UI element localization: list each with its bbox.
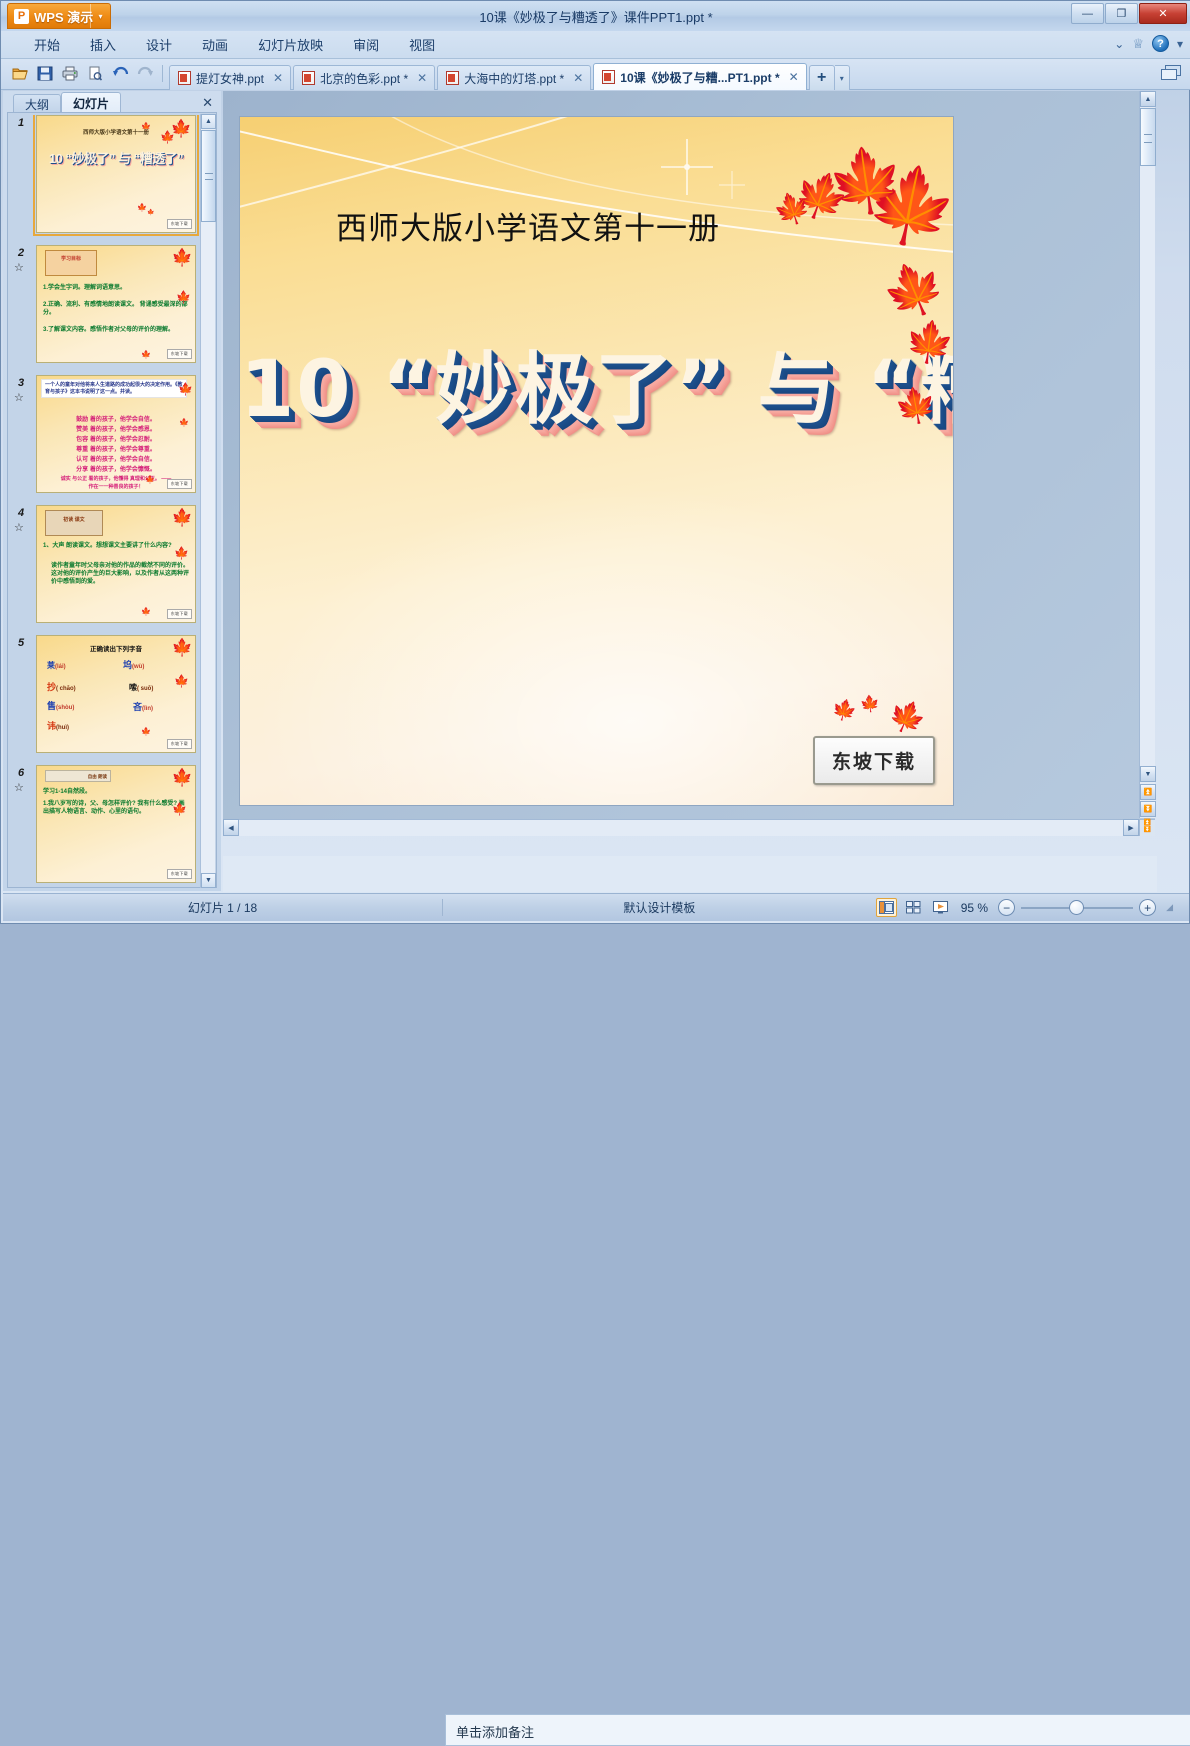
thumbnail-item[interactable]: 1 西师大版小学语文第十一册 10 “妙极了” 与 “糟透了” 🍁 🍁 🍁 🍁 …	[10, 115, 198, 237]
thumb-line: 赞美 着的孩子，他学会感恩。	[43, 426, 189, 434]
quick-access-toolbar: ▾ 提灯女神.ppt ✕ 北京的色彩.ppt * ✕ 大海中的灯塔.ppt * …	[1, 59, 1190, 90]
menu-item-slideshow[interactable]: 幻灯片放映	[243, 32, 338, 57]
thumbnail-list: 1 西师大版小学语文第十一册 10 “妙极了” 与 “糟透了” 🍁 🍁 🍁 🍁 …	[10, 115, 200, 887]
powerpoint-file-icon	[446, 71, 459, 85]
current-slide[interactable]: 西师大版小学语文第十一册 10 “妙极了” 与 “糟透了” 🍁 🍁 🍁 🍁 🍁 …	[239, 116, 954, 806]
open-icon[interactable]	[9, 62, 31, 84]
document-tab-label: 大海中的灯塔.ppt *	[464, 70, 564, 87]
scroll-down-icon[interactable]: ▼	[201, 873, 216, 888]
thumbnail-number: 3	[18, 377, 24, 389]
thumb-banner-label: 初读 课文	[46, 516, 102, 523]
thumb-pinyin: (lái)	[55, 664, 66, 670]
thumbnail-number: 5	[18, 637, 24, 649]
menu-item-view[interactable]: 视图	[394, 32, 450, 57]
save-icon[interactable]	[34, 62, 56, 84]
scroll-down-icon[interactable]: ▼	[1140, 766, 1156, 782]
scroll-up-icon[interactable]: ▲	[201, 114, 216, 129]
thumb-line: 认可 着的孩子，他学会自信。	[43, 456, 189, 464]
quick-access-buttons: ▾	[9, 62, 191, 84]
thumb-download-badge: 东坡下载	[167, 219, 192, 229]
thumb-line: 包容 着的孩子，他学会忍耐。	[43, 436, 189, 444]
powerpoint-file-icon	[178, 71, 191, 85]
document-tab[interactable]: 提灯女神.ppt ✕	[169, 65, 291, 90]
wps-app-label: WPS 演示	[34, 7, 93, 26]
document-tab-label: 提灯女神.ppt	[196, 70, 264, 87]
maple-leaf-icon: 🍁	[824, 146, 909, 218]
menu-item-animation[interactable]: 动画	[187, 32, 243, 57]
wps-presentation-window: 10课《妙极了与糟透了》课件PPT1.ppt * P WPS 演示 ▾ — ❐ …	[0, 0, 1190, 924]
maple-leaf-icon: 🍁	[830, 698, 859, 723]
document-tab[interactable]: 北京的色彩.ppt * ✕	[293, 65, 435, 90]
minimize-button[interactable]: —	[1071, 3, 1104, 24]
help-icon[interactable]: ?	[1152, 35, 1169, 52]
powerpoint-file-icon	[602, 70, 615, 84]
chevron-down-icon[interactable]: ▾	[90, 4, 110, 28]
thumb-line: 读作者童年时父母亲对他的作品的截然不同的评价。这对他的评价产生的巨大影响，以及作…	[51, 562, 189, 586]
thumb-line: 分享 着的孩子，他学会慷慨。	[43, 466, 189, 474]
document-tab-label: 北京的色彩.ppt *	[320, 70, 408, 87]
wps-presentation-icon: P	[14, 9, 29, 24]
thumbnail-item[interactable]: 4 ☆ 初读 课文 1、大声 朗读课文。想想课文主要讲了什么内容? 读作者童年时…	[10, 505, 198, 627]
document-tab-bar: 提灯女神.ppt ✕ 北京的色彩.ppt * ✕ 大海中的灯塔.ppt * ✕ …	[169, 62, 850, 90]
thumbnail-slide-6[interactable]: 自由 朗读 学习1-14自然段。 1.我八岁写的诗，父、母怎样评价? 我有什么感…	[36, 765, 196, 883]
maple-leaf-icon: 🍁	[770, 190, 815, 230]
close-icon[interactable]: ✕	[273, 71, 283, 85]
thumb-banner-label: 自由 朗读	[46, 774, 110, 780]
menu-item-start[interactable]: 开始	[19, 32, 75, 57]
thumb-hanzi: 莱	[47, 661, 55, 670]
tab-slides[interactable]: 幻灯片	[61, 92, 121, 113]
thumb-download-badge: 东坡下载	[167, 349, 192, 359]
download-watermark-badge: 东坡下载	[813, 736, 935, 785]
maple-leaf-icon: 🍁	[788, 167, 855, 227]
pane-tab-filler	[121, 95, 202, 113]
thumb-textbox: 一个人的童年对他将来人生道路的成功起很大的决定作用。《教育与孩子》这本书说明了这…	[41, 379, 187, 398]
thumbnail-number: 1	[18, 117, 24, 129]
animation-star-icon: ☆	[14, 521, 24, 534]
print-icon[interactable]	[59, 62, 81, 84]
thumb-download-badge: 东坡下载	[167, 479, 192, 489]
shirt-icon[interactable]: ♕	[1132, 36, 1144, 52]
menu-item-review[interactable]: 审阅	[338, 32, 394, 57]
slide-sorter-view-button[interactable]	[903, 898, 924, 917]
thumbnail-item[interactable]: 6 ☆ 自由 朗读 学习1-14自然段。 1.我八岁写的诗，父、母怎样评价? 我…	[10, 765, 198, 887]
thumb-pinyin: (shòu)	[56, 705, 74, 711]
menu-item-design[interactable]: 设计	[131, 32, 187, 57]
scrollbar-corner: ⏫⏬	[1139, 819, 1155, 836]
slide-editor-stage: 西师大版小学语文第十一册 10 “妙极了” 与 “糟透了” 🍁 🍁 🍁 🍁 🍁 …	[223, 91, 1155, 836]
slide-counter: 幻灯片 1 / 18	[3, 899, 443, 916]
zoom-out-button[interactable]: −	[998, 899, 1015, 916]
notes-pane[interactable]: 单击添加备注	[445, 1714, 1190, 1746]
thumb-hanzi: 坞	[123, 660, 132, 670]
thumb-wordart: 10 “妙极了” 与 “糟透了”	[43, 150, 189, 168]
thumb-line: 1.学会生字词。理解词语意思。	[43, 284, 189, 292]
thumb-pinyin: ( chāo)	[56, 686, 76, 692]
thumb-header: 正确读出下列字音	[43, 646, 189, 655]
maple-leaf-icon: 🍁	[859, 696, 880, 714]
slide-wordart-title[interactable]: 10 “妙极了” 与 “糟透了”	[240, 327, 954, 439]
thumb-line: 学习1-14自然段。	[43, 788, 189, 796]
close-icon[interactable]: ✕	[417, 71, 427, 85]
slide-navigator-pane: 大纲 幻灯片 ✕ 1 西师大版小学语文第十一册 10 “妙极了” 与 “糟透了”…	[3, 91, 221, 891]
window-arrange-icon[interactable]	[1161, 65, 1181, 82]
close-button[interactable]: ✕	[1139, 3, 1187, 24]
thumb-line: 鼓励 着的孩子，他学会自信。	[43, 416, 189, 424]
thumb-subtitle: 西师大版小学语文第十一册	[43, 130, 189, 137]
previous-slide-icon[interactable]: ⏫	[1140, 784, 1156, 800]
tab-outline[interactable]: 大纲	[13, 94, 61, 113]
pane-tab-bar: 大纲 幻灯片 ✕	[3, 91, 221, 113]
thumb-banner: 学习目标	[45, 250, 97, 276]
zoom-in-button[interactable]: +	[1139, 899, 1156, 916]
slideshow-view-button[interactable]	[930, 898, 951, 917]
notes-pane-wrapper: 单击添加备注	[223, 856, 1157, 892]
menu-bar-right: ⌄ ♕ ? ▾	[1114, 35, 1183, 52]
status-bar: 幻灯片 1 / 18 默认设计模板 95 % − + ◢	[3, 893, 1189, 921]
thumbnail-slide-3[interactable]: 一个人的童年对他将来人生道路的成功起很大的决定作用。《教育与孩子》这本书说明了这…	[36, 375, 196, 493]
thumbnail-slide-4[interactable]: 初读 课文 1、大声 朗读课文。想想课文主要讲了什么内容? 读作者童年时父母亲对…	[36, 505, 196, 623]
thumbnail-item[interactable]: 2 ☆ 学习目标 1.学会生字词。理解词语意思。 2.正确、流利、有感情地朗读课…	[10, 245, 198, 367]
menu-bar: 开始 插入 设计 动画 幻灯片放映 审阅 视图 ⌄ ♕ ? ▾	[1, 31, 1190, 59]
thumbnail-scrollbar[interactable]: ▲ ▼	[200, 114, 215, 888]
thumb-pinyin: ( suō)	[137, 686, 153, 692]
thumb-pinyin: (wù)	[132, 664, 144, 670]
animation-star-icon: ☆	[14, 781, 24, 794]
maple-leaf-icon: 🍁	[876, 255, 952, 325]
thumb-banner: 初读 课文	[45, 510, 103, 536]
thumbnail-number: 4	[18, 507, 24, 519]
thumb-banner: 自由 朗读	[45, 770, 111, 782]
close-icon[interactable]: ✕	[789, 70, 799, 84]
wps-app-button[interactable]: P WPS 演示 ▾	[7, 3, 111, 29]
powerpoint-file-icon	[302, 71, 315, 85]
design-template-label: 默认设计模板	[443, 899, 876, 916]
document-tab-active[interactable]: 10课《妙极了与糟...PT1.ppt * ✕	[593, 63, 806, 90]
zoom-slider-knob[interactable]	[1069, 900, 1084, 915]
resize-grip-icon[interactable]: ◢	[1166, 902, 1173, 913]
document-tab-label: 10课《妙极了与糟...PT1.ppt *	[620, 69, 779, 86]
thumbnail-scroll-area: 1 西师大版小学语文第十一册 10 “妙极了” 与 “糟透了” 🍁 🍁 🍁 🍁 …	[7, 112, 217, 888]
undo-icon[interactable]	[109, 62, 131, 84]
status-bar-right: 95 % − + ◢	[876, 898, 1189, 917]
thumb-line: 1.我八岁写的诗，父、母怎样评价? 我有什么感受? 画出描写人物语言、动作、心里…	[43, 800, 189, 816]
help-caret-icon[interactable]: ▾	[1177, 37, 1183, 51]
window-controls: — ❐ ✕	[1071, 3, 1187, 24]
print-preview-icon[interactable]	[84, 62, 106, 84]
thumb-banner-label: 学习目标	[46, 255, 96, 262]
thumb-line: 2.正确、流利、有感情地朗读课文。 背诵感受最深的部分。	[43, 301, 189, 317]
thumbnail-slide-1[interactable]: 西师大版小学语文第十一册 10 “妙极了” 与 “糟透了” 🍁 🍁 🍁 🍁 🍁 …	[36, 115, 196, 233]
thumb-hanzi: 讳	[47, 721, 56, 731]
new-tab-caret-icon[interactable]: ▾	[835, 65, 850, 90]
new-tab-button[interactable]: +	[809, 65, 835, 90]
document-tab[interactable]: 大海中的灯塔.ppt * ✕	[437, 65, 591, 90]
thumbnail-number: 2	[18, 247, 24, 259]
thumbnail-item[interactable]: 3 ☆ 一个人的童年对他将来人生道路的成功起很大的决定作用。《教育与孩子》这本书…	[10, 375, 198, 497]
slide-subtitle[interactable]: 西师大版小学语文第十一册	[336, 203, 720, 248]
animation-star-icon: ☆	[14, 261, 24, 274]
thumb-line: 3.了解课文内容。感悟作者对父母的评价的理解。	[43, 326, 189, 334]
thumb-hanzi: 吝	[133, 702, 142, 712]
thumb-hanzi: 嗦	[129, 683, 137, 692]
thumb-hanzi: 抄	[47, 682, 56, 692]
scroll-left-icon[interactable]: ◀	[223, 819, 239, 836]
scrollbar-thumb[interactable]	[1140, 108, 1156, 166]
thumbnail-number: 6	[18, 767, 24, 779]
toolbar-divider	[162, 65, 163, 82]
animation-star-icon: ☆	[14, 391, 24, 404]
maple-leaf-icon: 🍁	[858, 160, 954, 252]
thumbnail-item[interactable]: 5 正确读出下列字音 莱(lái) 坞(wù) 抄( chāo)	[10, 635, 198, 757]
scroll-right-icon[interactable]: ▶	[1123, 819, 1139, 836]
thumbnail-slide-2[interactable]: 学习目标 1.学会生字词。理解词语意思。 2.正确、流利、有感情地朗读课文。 背…	[36, 245, 196, 363]
thumbnail-slide-5[interactable]: 正确读出下列字音 莱(lái) 坞(wù) 抄( chāo) 嗦( suō)	[36, 635, 196, 753]
thumb-pinyin: (lìn)	[142, 706, 153, 712]
thumb-line: 1、大声 朗读课文。想想课文主要讲了什么内容?	[43, 542, 189, 550]
scroll-up-icon[interactable]: ▲	[1140, 91, 1156, 107]
close-icon[interactable]: ✕	[573, 71, 583, 85]
thumb-download-badge: 东坡下载	[167, 739, 192, 749]
thumb-hanzi: 售	[47, 701, 56, 711]
thumb-line: 尊重 着的孩子，他学会尊重。	[43, 446, 189, 454]
redo-icon	[134, 62, 156, 84]
zoom-slider[interactable]	[1021, 907, 1133, 909]
normal-view-button[interactable]	[876, 898, 897, 917]
maximize-button[interactable]: ❐	[1105, 3, 1138, 24]
next-slide-icon[interactable]: ⏬	[1140, 801, 1156, 817]
slide-horizontal-scrollbar[interactable]: ◀ ▶	[223, 819, 1139, 836]
slide-vertical-scrollbar[interactable]: ▲ ▼ ⏫ ⏬	[1139, 91, 1155, 818]
scrollbar-thumb[interactable]	[201, 130, 216, 222]
thumb-line: 一个人的童年对他将来人生道路的成功起很大的决定作用。《教育与孩子》这本书说明了这…	[45, 382, 183, 395]
pane-close-icon[interactable]: ✕	[202, 95, 221, 113]
maple-leaf-icon: 🍁	[884, 697, 930, 740]
title-bar: 10课《妙极了与糟透了》课件PPT1.ppt * P WPS 演示 ▾ — ❐ …	[1, 1, 1190, 31]
chevron-down-icon[interactable]: ⌄	[1114, 37, 1124, 51]
menu-item-insert[interactable]: 插入	[75, 32, 131, 57]
zoom-level-label: 95 %	[961, 901, 988, 915]
thumb-download-badge: 东坡下载	[167, 609, 192, 619]
document-title: 10课《妙极了与糟透了》课件PPT1.ppt *	[1, 1, 1190, 31]
thumb-pinyin: (huì)	[56, 725, 69, 731]
thumb-download-badge: 东坡下载	[167, 869, 192, 879]
